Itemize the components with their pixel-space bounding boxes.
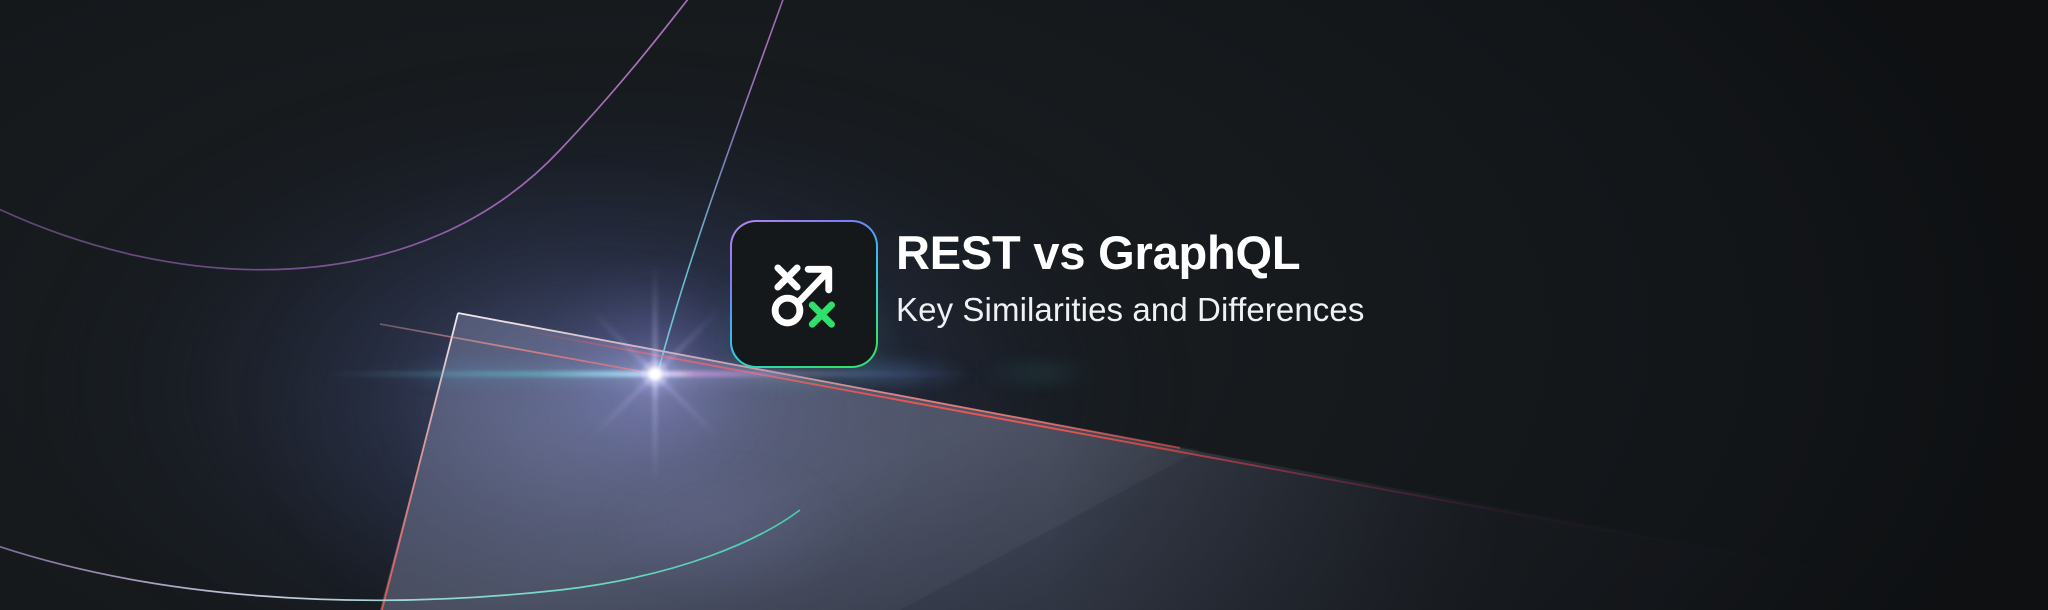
- page-title: REST vs GraphQL: [896, 228, 1896, 279]
- page-subtitle: Key Similarities and Differences: [896, 291, 1896, 330]
- icon-card-inner: [732, 222, 876, 366]
- icon-card: [730, 220, 878, 368]
- banner-text-block: REST vs GraphQL Key Similarities and Dif…: [896, 228, 1896, 330]
- hero-banner: REST vs GraphQL Key Similarities and Dif…: [0, 0, 2048, 610]
- strategy-icon: [760, 250, 848, 338]
